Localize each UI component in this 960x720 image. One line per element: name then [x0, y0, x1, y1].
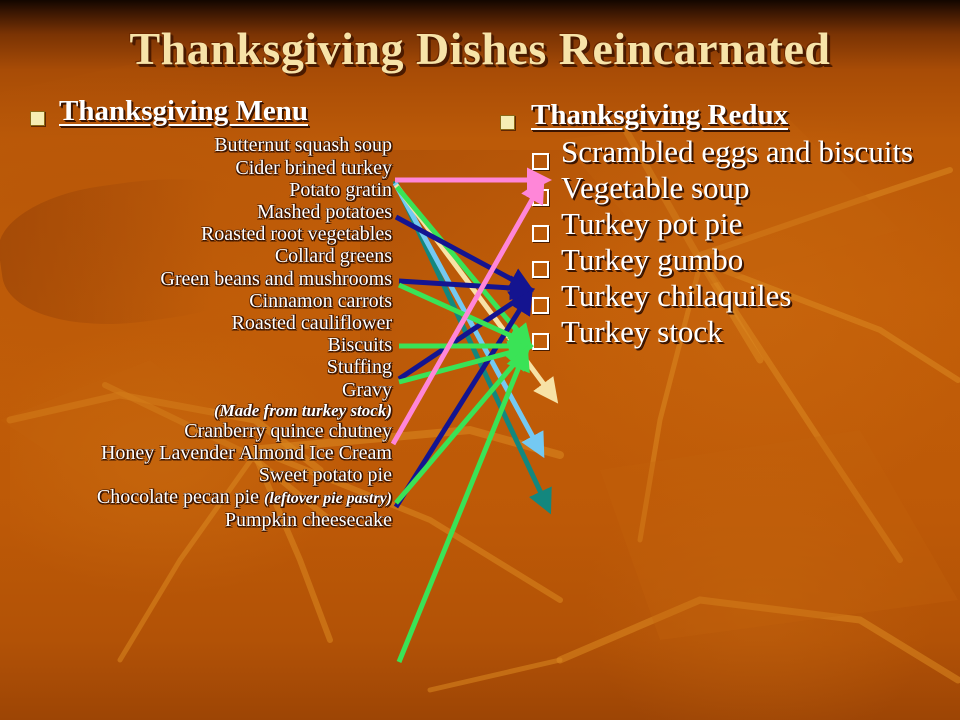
- list-item-label: Vegetable soup: [561, 172, 750, 204]
- filled-square-bullet-icon: [500, 115, 515, 130]
- list-item-label: Turkey stock: [561, 316, 723, 348]
- list-item-note: (Made from turkey stock): [0, 401, 392, 420]
- page-title: Thanksgiving Dishes Reincarnated: [0, 22, 960, 75]
- left-heading-row: Thanksgiving Menu: [0, 96, 400, 126]
- right-heading-row: Thanksgiving Redux: [496, 100, 960, 130]
- right-column: Thanksgiving Redux Scrambled eggs and bi…: [496, 100, 960, 352]
- list-item: Biscuits: [0, 334, 392, 356]
- list-item-label: Scrambled eggs and biscuits: [561, 136, 913, 168]
- hollow-square-bullet-icon: [532, 225, 549, 242]
- list-item: Cider brined turkey: [0, 157, 392, 179]
- list-item: Potato gratin: [0, 179, 392, 201]
- list-item: Cranberry quince chutney: [0, 420, 392, 442]
- background-leaf-decoration: [560, 430, 960, 720]
- list-item: Mashed potatoes: [0, 201, 392, 223]
- list-item-main: Chocolate pecan pie: [97, 486, 259, 508]
- list-item: Turkey pot pie: [532, 208, 960, 242]
- arrow-chocolate-pecan-pie-to-turkey-pot-pie: [399, 352, 525, 662]
- slide-canvas: Thanksgiving Dishes Reincarnated Thanksg…: [0, 0, 960, 720]
- right-heading: Thanksgiving Redux: [531, 100, 788, 130]
- hollow-square-bullet-icon: [532, 333, 549, 350]
- list-item: Pumpkin cheesecake: [0, 509, 392, 531]
- arrow-cinnamon-carrots-to-turkey-pot-pie: [399, 348, 527, 382]
- thanksgiving-menu-list: Butternut squash soup Cider brined turke…: [0, 134, 400, 530]
- list-item: Butternut squash soup: [0, 134, 392, 156]
- list-item-note: (leftover pie pastry): [264, 490, 392, 507]
- list-item: Gravy: [0, 379, 392, 401]
- arrow-gravy-to-turkey-pot-pie: [396, 350, 526, 503]
- hollow-square-bullet-icon: [532, 153, 549, 170]
- list-item-label: Turkey chilaquiles: [561, 280, 791, 312]
- list-item: Roasted cauliflower: [0, 312, 392, 334]
- list-item: Vegetable soup: [532, 172, 960, 206]
- hollow-square-bullet-icon: [532, 261, 549, 278]
- list-item: Honey Lavender Almond Ice Cream: [0, 442, 392, 464]
- list-item: Chocolate pecan pie (leftover pie pastry…: [0, 486, 392, 508]
- list-item: Turkey stock: [532, 316, 960, 350]
- list-item: Scrambled eggs and biscuits: [532, 136, 960, 170]
- left-heading: Thanksgiving Menu: [59, 96, 308, 126]
- list-item: Turkey gumbo: [532, 244, 960, 278]
- thanksgiving-redux-list: Scrambled eggs and biscuits Vegetable so…: [496, 136, 960, 350]
- list-item-label: Turkey pot pie: [561, 208, 742, 240]
- filled-square-bullet-icon: [30, 111, 45, 126]
- list-item-label: Turkey gumbo: [561, 244, 743, 276]
- hollow-square-bullet-icon: [532, 297, 549, 314]
- list-item: Green beans and mushrooms: [0, 268, 392, 290]
- list-item: Sweet potato pie: [0, 464, 392, 486]
- list-item: Collard greens: [0, 245, 392, 267]
- list-item: Stuffing: [0, 356, 392, 378]
- hollow-square-bullet-icon: [532, 189, 549, 206]
- list-item: Cinnamon carrots: [0, 290, 392, 312]
- list-item: Turkey chilaquiles: [532, 280, 960, 314]
- list-item: Roasted root vegetables: [0, 223, 392, 245]
- left-column: Thanksgiving Menu Butternut squash soup …: [0, 96, 400, 531]
